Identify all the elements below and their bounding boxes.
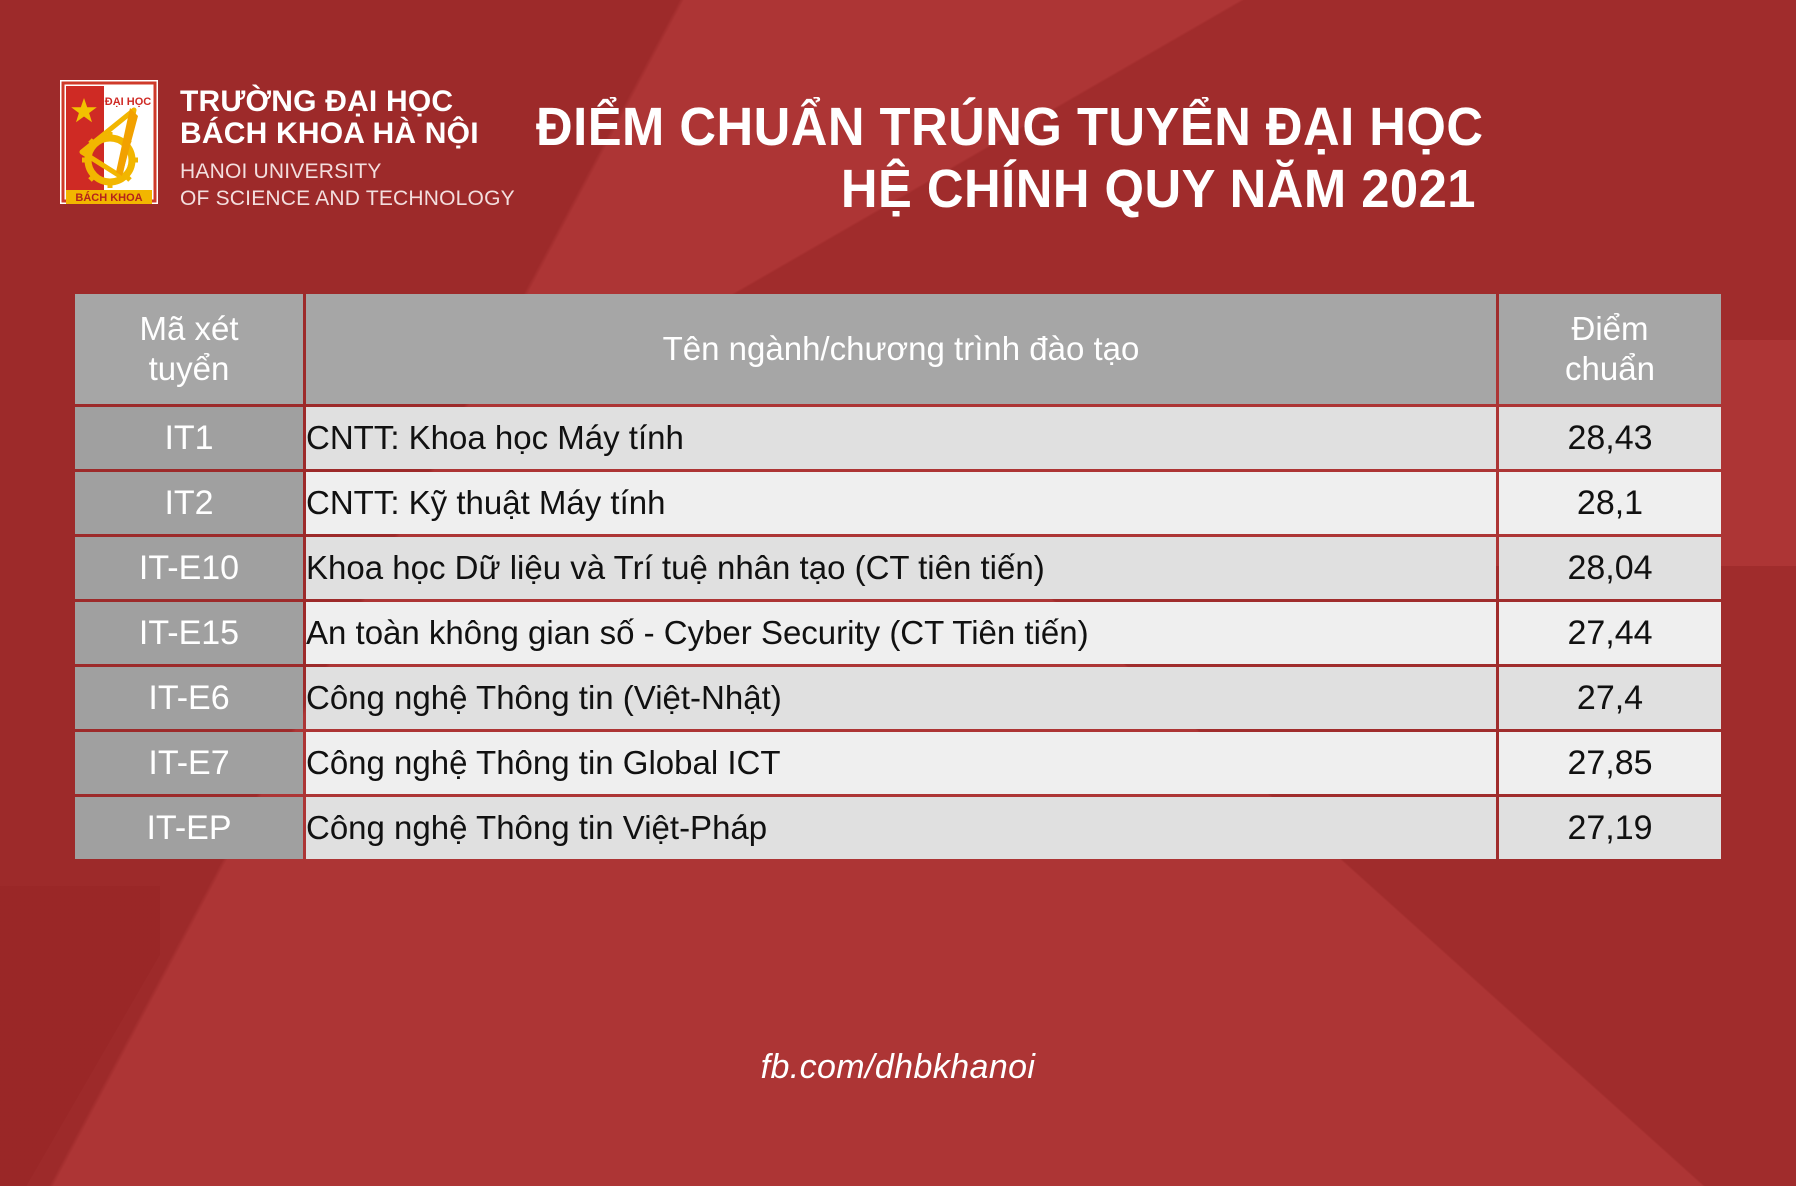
- table-body: IT1 CNTT: Khoa học Máy tính 28,43 IT2 CN…: [75, 407, 1721, 859]
- header: ĐẠI HỌC: [0, 0, 1796, 260]
- svg-text:ĐẠI HỌC: ĐẠI HỌC: [105, 96, 152, 108]
- column-header-score-line2: chuẩn: [1499, 349, 1721, 389]
- column-header-code-line1: Mã xét: [75, 309, 303, 349]
- row-code: IT-EP: [75, 797, 303, 859]
- row-code: IT-E6: [75, 667, 303, 729]
- brand-text: TRƯỜNG ĐẠI HỌC BÁCH KHOA HÀ NỘI HANOI UN…: [180, 80, 515, 211]
- row-code: IT-E15: [75, 602, 303, 664]
- table-row: IT1 CNTT: Khoa học Máy tính 28,43: [75, 407, 1721, 469]
- row-program: Công nghệ Thông tin Global ICT: [306, 732, 1496, 794]
- column-header-score-line1: Điểm: [1499, 309, 1721, 349]
- table-row: IT-E6 Công nghệ Thông tin (Việt-Nhật) 27…: [75, 667, 1721, 729]
- background-shade-bottom-left: [0, 886, 160, 1186]
- column-header-code: Mã xét tuyển: [75, 294, 303, 404]
- row-score: 27,19: [1499, 797, 1721, 859]
- university-name-en-line2: OF SCIENCE AND TECHNOLOGY: [180, 186, 515, 211]
- hust-crest-logo: ĐẠI HỌC: [60, 80, 158, 204]
- table-row: IT-E15 An toàn không gian số - Cyber Sec…: [75, 602, 1721, 664]
- page-title-line2: HỆ CHÍNH QUY NĂM 2021: [536, 158, 1476, 220]
- table-row: IT-EP Công nghệ Thông tin Việt-Pháp 27,1…: [75, 797, 1721, 859]
- row-code: IT2: [75, 472, 303, 534]
- row-score: 28,1: [1499, 472, 1721, 534]
- row-score: 28,43: [1499, 407, 1721, 469]
- footer-link[interactable]: fb.com/dhbkhanoi: [0, 1048, 1796, 1087]
- table-row: IT2 CNTT: Kỹ thuật Máy tính 28,1: [75, 472, 1721, 534]
- row-code: IT1: [75, 407, 303, 469]
- university-name-vi-line2: BÁCH KHOA HÀ NỘI: [180, 118, 515, 150]
- svg-text:BÁCH KHOA: BÁCH KHOA: [75, 191, 142, 204]
- table-row: IT-E10 Khoa học Dữ liệu và Trí tuệ nhân …: [75, 537, 1721, 599]
- university-name-vi-line1: TRƯỜNG ĐẠI HỌC: [180, 86, 515, 118]
- page-title-line1: ĐIỂM CHUẨN TRÚNG TUYỂN ĐẠI HỌC: [536, 96, 1476, 158]
- row-program: Công nghệ Thông tin Việt-Pháp: [306, 797, 1496, 859]
- row-score: 27,85: [1499, 732, 1721, 794]
- brand-block: ĐẠI HỌC: [60, 80, 515, 211]
- table-row: IT-E7 Công nghệ Thông tin Global ICT 27,…: [75, 732, 1721, 794]
- row-program: CNTT: Khoa học Máy tính: [306, 407, 1496, 469]
- row-score: 27,44: [1499, 602, 1721, 664]
- row-program: Công nghệ Thông tin (Việt-Nhật): [306, 667, 1496, 729]
- row-code: IT-E10: [75, 537, 303, 599]
- row-score: 27,4: [1499, 667, 1721, 729]
- row-program: Khoa học Dữ liệu và Trí tuệ nhân tạo (CT…: [306, 537, 1496, 599]
- column-header-code-line2: tuyển: [75, 349, 303, 389]
- column-header-program: Tên ngành/chương trình đào tạo: [306, 294, 1496, 404]
- row-score: 28,04: [1499, 537, 1721, 599]
- column-header-score: Điểm chuẩn: [1499, 294, 1721, 404]
- row-program: An toàn không gian số - Cyber Security (…: [306, 602, 1496, 664]
- university-name-en-line1: HANOI UNIVERSITY: [180, 159, 515, 184]
- row-program: CNTT: Kỹ thuật Máy tính: [306, 472, 1496, 534]
- table-header-row: Mã xét tuyển Tên ngành/chương trình đào …: [75, 294, 1721, 404]
- admission-scores-table: Mã xét tuyển Tên ngành/chương trình đào …: [72, 291, 1724, 862]
- page-title: ĐIỂM CHUẨN TRÚNG TUYỂN ĐẠI HỌC HỆ CHÍNH …: [476, 96, 1476, 220]
- row-code: IT-E7: [75, 732, 303, 794]
